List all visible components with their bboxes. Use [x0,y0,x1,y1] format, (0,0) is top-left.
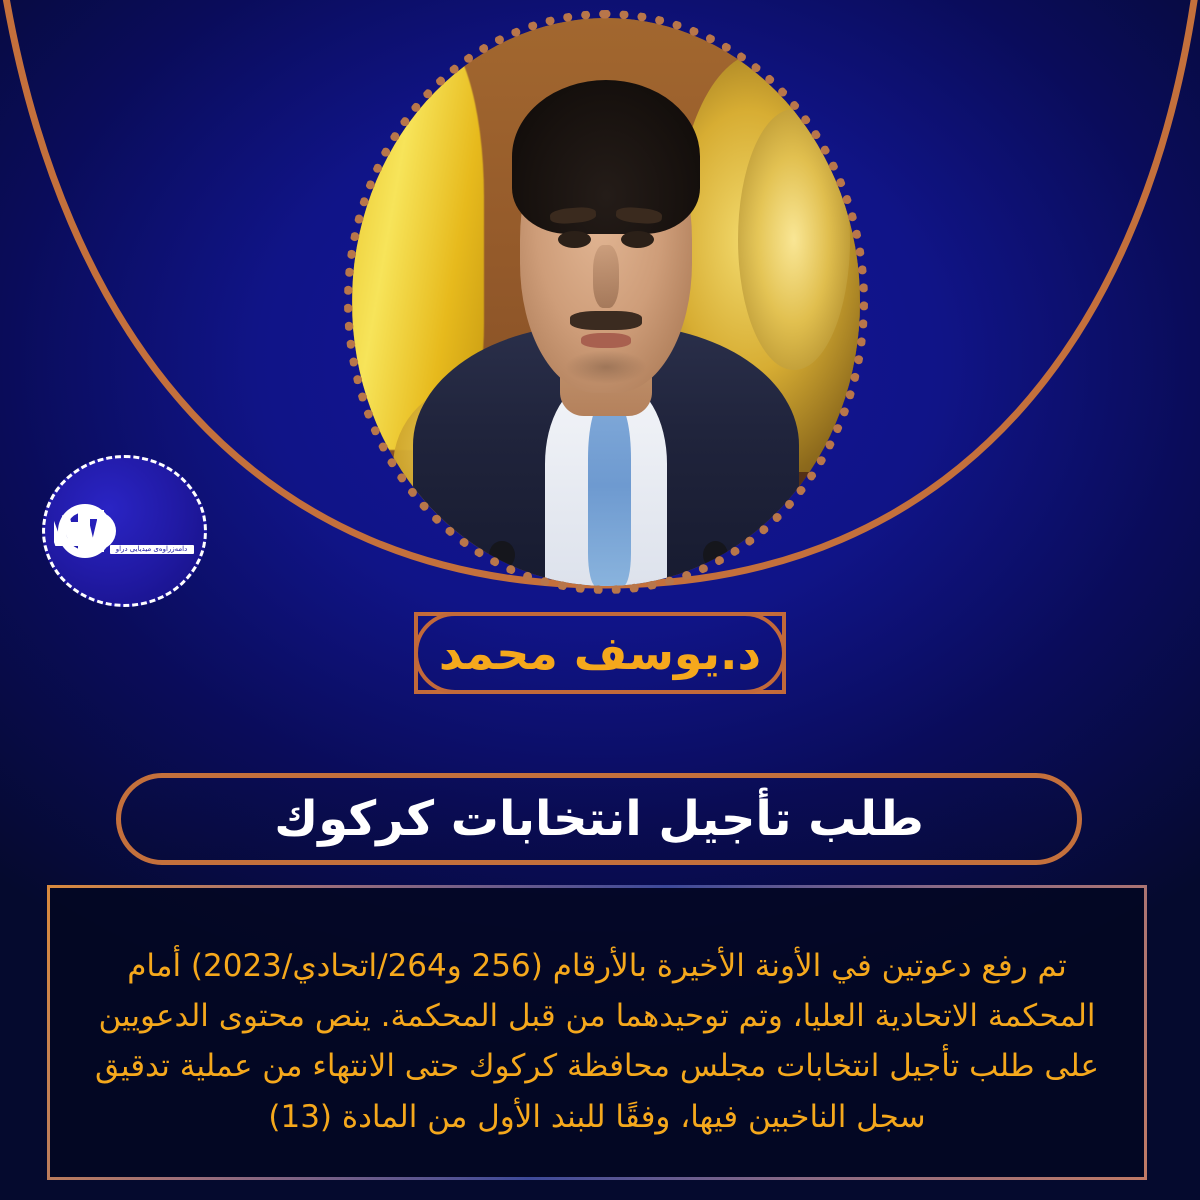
logo-subtitle: دامەزراوەی میدیایی دراو [110,545,194,554]
photo-chair-medallion [738,109,850,370]
body-text-box: تم رفع دعوتين في الأونة الأخيرة بالأرقام… [47,885,1147,1180]
photo-moustache [570,311,641,330]
photo-nose [593,245,618,307]
photo-hair [512,80,700,233]
body-paragraph: تم رفع دعوتين في الأونة الأخيرة بالأرقام… [80,941,1114,1142]
draw-logo[interactable]: RAW دامەزراوەی میدیایی دراو [42,455,207,607]
photo-microphone-right [703,541,728,569]
headline-box: طلب تأجيل انتخابات كركوك [116,773,1082,865]
speaker-name-badge: د.يوسف محمد [414,612,786,694]
photo-chin-shadow [565,350,646,384]
photo-microphone-left [489,541,514,569]
speaker-name-label: د.يوسف محمد [439,630,761,676]
poster-card: RAW دامەزراوەی میدیایی دراو د.يوسف محمد … [0,0,1200,1200]
photo-lips [581,333,632,348]
headline-text: طلب تأجيل انتخابات كركوك [274,795,924,843]
svg-text:RAW: RAW [54,507,107,556]
portrait-photo [352,18,860,586]
photo-eye-left [558,231,591,248]
photo-necktie [588,404,631,586]
